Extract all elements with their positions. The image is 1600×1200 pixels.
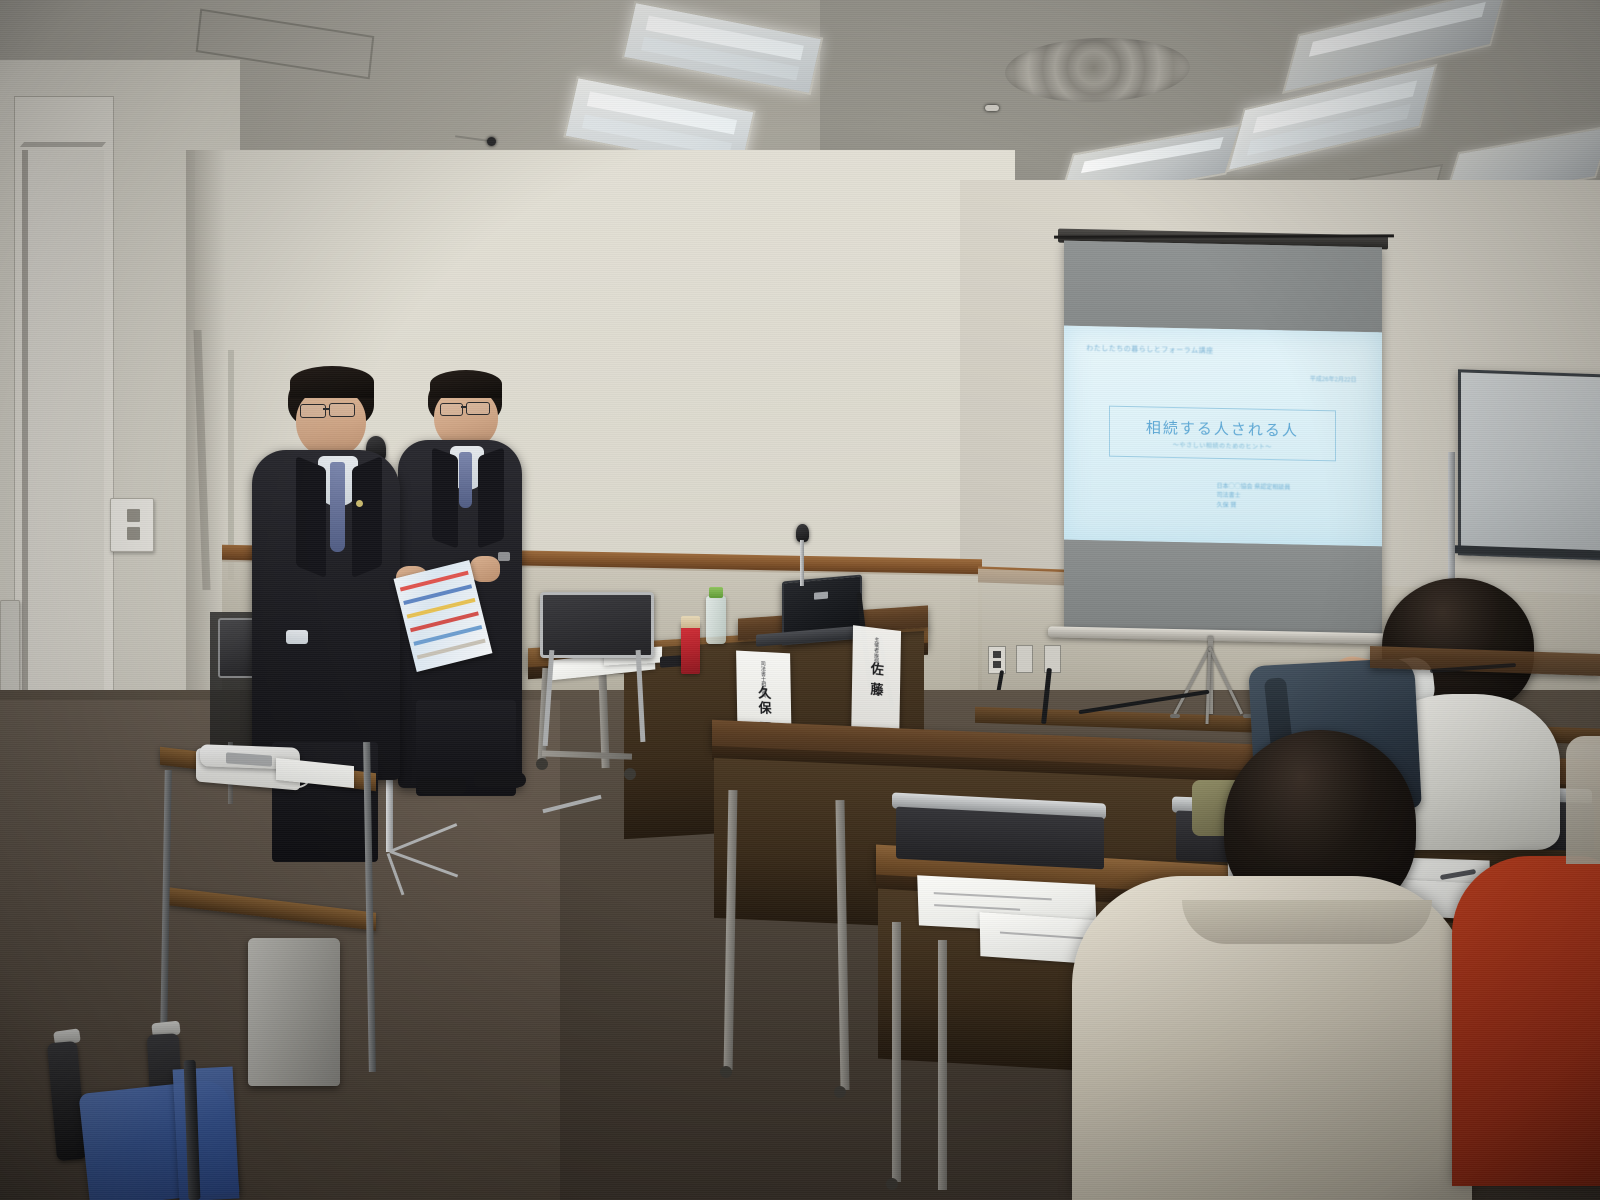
- whiteboard-stand-post: [1448, 452, 1455, 592]
- table-leg: [892, 922, 901, 1182]
- wall-switch-plate[interactable]: [110, 498, 154, 552]
- speaker-left-cuff: [286, 630, 308, 644]
- table-caster-icon: [624, 768, 636, 780]
- tripod-foot-icon: [1170, 714, 1180, 718]
- table-leg: [938, 940, 947, 1190]
- wall-outlet-1-icon: [988, 646, 1006, 674]
- slide-subtitle: 〜やさしい相続のためのヒント〜: [1173, 440, 1272, 451]
- switch-toggle-icon[interactable]: [127, 527, 140, 540]
- speaker-right-glasses-icon: [440, 403, 463, 416]
- whiteboard-icon: [1458, 369, 1600, 560]
- bottle-cap-icon: [709, 587, 723, 598]
- paper-text-line: [934, 892, 1052, 900]
- speaker-right-glasses-icon: [466, 402, 490, 415]
- speaker-right-lapel: [478, 447, 504, 548]
- speaker-right-shoe: [418, 778, 466, 794]
- slide-presenter-block: 日本◯◯協会 県認定相談員 司法書士 久保 賢: [1217, 483, 1291, 512]
- door-reveal-top: [20, 142, 106, 147]
- speaker-left-hair-top: [290, 366, 374, 398]
- speaker-left-glasses-bridge: [323, 408, 330, 410]
- screen-blank-bottom: [1064, 539, 1382, 635]
- sprinkler-head-icon: [487, 137, 496, 146]
- laptop-logo-icon: [814, 591, 828, 599]
- speaker-left-glasses-icon: [300, 404, 326, 418]
- chair-backrest: [540, 592, 654, 658]
- table-caster-icon: [720, 1066, 732, 1078]
- speaker-left-glasses-icon: [329, 403, 355, 417]
- table-microphone-stem: [800, 540, 804, 586]
- speaker-right-necktie: [459, 452, 472, 508]
- speaker-left-face: [296, 388, 366, 458]
- projection-screen: わたしたちの暮らしとフォーラム講座 平成26年2月22日 相続する人される人 〜…: [1058, 229, 1388, 641]
- wheelchair-backrest-fabric: [173, 1067, 240, 1200]
- speaker-right-hand: [470, 556, 500, 582]
- trashcan-icon: [248, 938, 340, 1086]
- screen-surface: わたしたちの暮らしとフォーラム講座 平成26年2月22日 相続する人される人 〜…: [1064, 241, 1382, 636]
- slide-presenter-line-3: 久保 賢: [1217, 501, 1291, 512]
- placard-right-name: 佐 藤: [866, 661, 886, 699]
- table-caster-icon: [834, 1086, 846, 1098]
- ceiling-dot-icon: [985, 105, 999, 111]
- speaker-left-necktie: [330, 462, 345, 552]
- speaker-left-lapel: [352, 456, 382, 578]
- speaker-right-lapel: [432, 447, 458, 548]
- placard-right-subtitle: 主催者挨拶: [873, 637, 880, 664]
- desk-small-device-icon: [660, 655, 682, 668]
- slide-title-box: 相続する人される人 〜やさしい相続のためのヒント〜: [1109, 406, 1337, 462]
- slide-header-text: わたしたちの暮らしとフォーラム講座: [1086, 344, 1213, 357]
- screen-blank-top: [1064, 241, 1382, 333]
- table-caster-icon: [886, 1178, 898, 1190]
- table-caster-icon: [536, 758, 548, 770]
- seminar-room-photo: わたしたちの暮らしとフォーラム講座 平成26年2月22日 相続する人される人 〜…: [0, 0, 1600, 1200]
- speaker-left-lapel-pin-icon: [356, 500, 363, 507]
- red-package-box: [681, 622, 700, 674]
- audience-collar: [1182, 900, 1432, 944]
- slide-content: わたしたちの暮らしとフォーラム講座 平成26年2月22日 相続する人される人 〜…: [1064, 326, 1382, 546]
- paper-text-line: [934, 904, 1020, 910]
- slide-title: 相続する人される人: [1146, 416, 1299, 440]
- speaker-right-hair-top: [430, 370, 502, 398]
- switch-toggle-icon[interactable]: [127, 509, 140, 522]
- speaker-right-glasses-bridge: [461, 406, 467, 408]
- water-bottle-icon: [706, 596, 726, 644]
- speaker-left-lapel: [296, 456, 326, 578]
- speaker-right-shoe: [474, 772, 526, 787]
- red-package-lid: [681, 616, 700, 628]
- audience-chair-seat-1[interactable]: [896, 807, 1104, 870]
- wall-outlet-2-icon: [1016, 645, 1033, 673]
- audience-person-far-right: [1566, 736, 1600, 864]
- audience-red-sweater: [1452, 856, 1600, 1186]
- speaker-right-watch-icon: [498, 552, 510, 561]
- wall-plate-lower: [0, 600, 20, 692]
- slide-date-text: 平成26年2月22日: [1310, 374, 1357, 384]
